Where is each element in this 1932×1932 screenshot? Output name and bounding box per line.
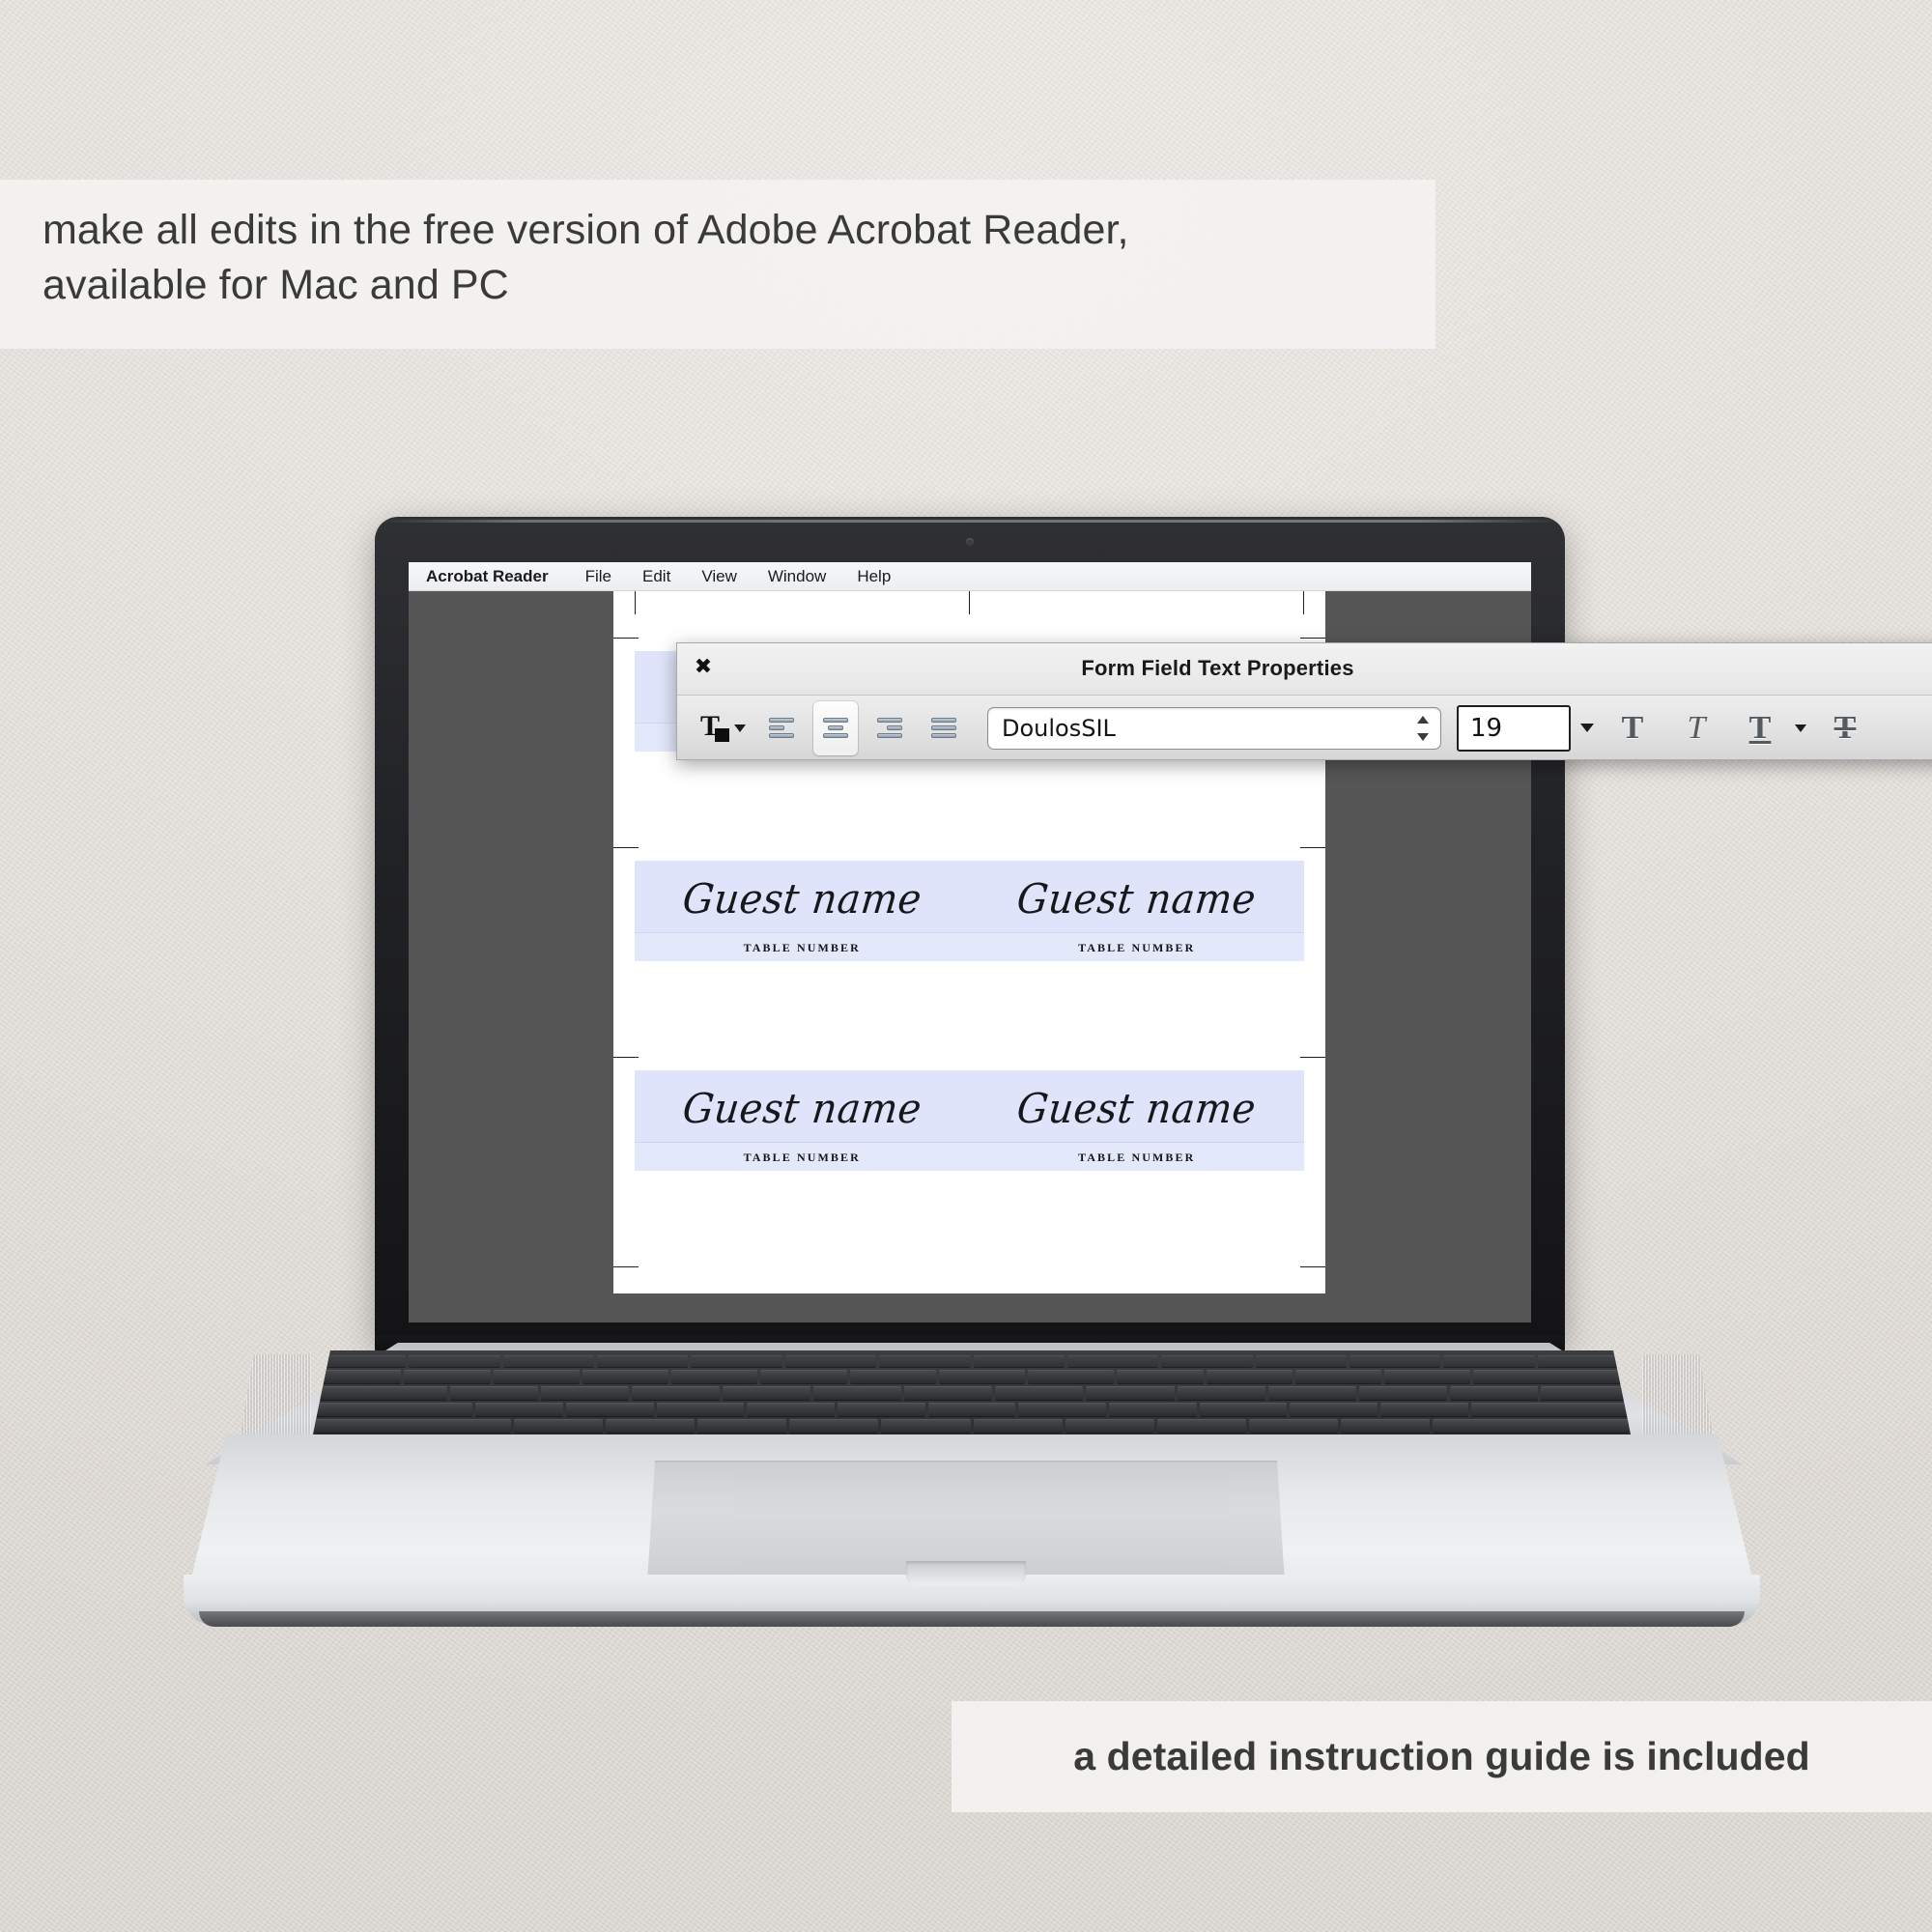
underline-chevron-down-icon[interactable] [1795,724,1806,732]
key[interactable] [1538,1355,1629,1367]
keyboard-row-home[interactable] [315,1403,1629,1416]
menu-item-help[interactable]: Help [841,562,906,591]
crop-mark [969,591,970,614]
crop-mark [1303,591,1304,614]
key[interactable] [1295,1370,1381,1383]
align-right-icon [877,716,902,741]
font-size-chevron-down-icon[interactable] [1580,724,1594,732]
key[interactable] [1207,1370,1293,1383]
key[interactable] [747,1403,835,1416]
keyboard-row-numbers[interactable] [315,1370,1629,1383]
key[interactable] [785,1355,876,1367]
key-shift-left[interactable] [315,1419,511,1433]
key[interactable] [1256,1355,1347,1367]
key-shift-right[interactable] [1433,1419,1629,1433]
key[interactable] [475,1403,563,1416]
italic-button[interactable]: T [1671,701,1721,755]
key[interactable] [995,1386,1083,1400]
font-size-value: 19 [1459,714,1502,743]
key[interactable] [1450,1386,1538,1400]
caption-top: make all edits in the free version of Ad… [0,180,1435,349]
key[interactable] [723,1386,810,1400]
align-right-button[interactable] [867,701,912,755]
key[interactable] [1067,1355,1158,1367]
stepper-icon[interactable] [1415,716,1431,741]
key[interactable] [1359,1386,1447,1400]
key[interactable] [1290,1403,1378,1416]
align-center-icon [823,716,848,741]
crop-mark [613,1266,639,1267]
keyboard-row-bottom-letters[interactable] [315,1419,1629,1433]
place-card-row[interactable]: Guest name TABLE NUMBER Guest name TABLE… [635,861,1304,961]
key[interactable] [1178,1386,1265,1400]
key-delete[interactable] [1473,1370,1629,1383]
align-center-button[interactable] [813,701,858,755]
guest-name-field[interactable]: Guest name [1015,879,1258,920]
menu-item-edit[interactable]: Edit [627,562,686,591]
key[interactable] [850,1370,936,1383]
key-caps-lock[interactable] [315,1403,472,1416]
key[interactable] [582,1370,668,1383]
key-return[interactable] [1471,1403,1629,1416]
key[interactable] [315,1370,401,1383]
webcam-icon [966,538,974,546]
font-size-input[interactable]: 19 [1457,705,1571,752]
key[interactable] [1268,1386,1356,1400]
caption-top-line-1: make all edits in the free version of Ad… [43,203,1435,258]
key[interactable] [1541,1386,1629,1400]
keyboard-row-qwerty[interactable] [315,1386,1629,1400]
key[interactable] [879,1355,970,1367]
crop-mark [1300,1057,1325,1058]
key[interactable] [404,1370,490,1383]
key[interactable] [1341,1419,1430,1433]
key[interactable] [1086,1386,1174,1400]
menubar: Acrobat Reader File Edit View Window Hel… [409,562,1531,591]
key[interactable] [881,1419,970,1433]
key[interactable] [974,1355,1065,1367]
text-color-button[interactable]: T [700,701,746,755]
key[interactable] [566,1403,654,1416]
place-card-cell[interactable]: Guest name TABLE NUMBER [970,1070,1305,1171]
key[interactable] [1161,1355,1252,1367]
crop-mark [635,591,636,614]
crop-mark [1300,1266,1325,1267]
key[interactable] [1157,1419,1246,1433]
key[interactable] [1109,1403,1197,1416]
guest-name-field[interactable]: Guest name [1015,1089,1258,1129]
key[interactable] [813,1386,901,1400]
key[interactable] [1249,1419,1338,1433]
table-number-label[interactable]: TABLE NUMBER [1078,941,1195,955]
font-family-select[interactable]: DoulosSIL [987,707,1441,750]
menu-item-view[interactable]: View [686,562,753,591]
key[interactable] [1117,1370,1203,1383]
chevron-down-icon[interactable] [734,724,746,732]
place-card-cell[interactable]: Guest name TABLE NUMBER [970,861,1305,961]
bold-button[interactable]: T [1607,701,1658,755]
text-color-icon: T [700,714,729,743]
key[interactable] [606,1419,695,1433]
key-tab[interactable] [315,1386,447,1400]
laptop-lid: Acrobat Reader File Edit View Window Hel… [375,517,1565,1343]
key[interactable] [974,1419,1063,1433]
place-card-row[interactable]: Guest name TABLE NUMBER Guest name TABLE… [635,1070,1304,1171]
key[interactable] [503,1355,594,1367]
align-left-icon [769,716,794,741]
table-number-label[interactable]: TABLE NUMBER [744,941,861,955]
table-number-label[interactable]: TABLE NUMBER [1078,1151,1195,1165]
key[interactable] [1028,1370,1114,1383]
keyboard-row-function[interactable] [315,1355,1629,1367]
font-family-value: DoulosSIL [988,715,1116,742]
key[interactable] [541,1386,629,1400]
key[interactable] [760,1370,846,1383]
place-card-cell[interactable]: Guest name TABLE NUMBER [635,861,970,961]
guest-name-field[interactable]: Guest name [681,1089,923,1129]
dialog-titlebar: ✖ Form Field Text Properties [677,643,1932,696]
crop-mark [613,847,639,848]
key[interactable] [939,1370,1025,1383]
guest-name-field[interactable]: Guest name [681,879,923,920]
dialog-title: Form Field Text Properties [677,656,1932,681]
key[interactable] [657,1403,745,1416]
strikethrough-button[interactable]: T [1820,701,1870,755]
key[interactable] [838,1403,925,1416]
key[interactable] [450,1386,538,1400]
key[interactable] [494,1370,580,1383]
crop-mark [613,638,639,639]
caption-bottom: a detailed instruction guide is included [952,1701,1932,1812]
laptop-front-notch [906,1561,1026,1586]
key[interactable] [904,1386,992,1400]
key[interactable] [789,1419,878,1433]
key[interactable] [928,1403,1016,1416]
align-justify-icon [931,716,956,741]
form-field-text-properties-dialog[interactable]: ✖ Form Field Text Properties T DoulosSIL [676,642,1932,760]
key[interactable] [671,1370,757,1383]
dialog-toolbar[interactable]: T DoulosSIL 19 T T T [677,696,1932,760]
key[interactable] [1200,1403,1288,1416]
key[interactable] [1380,1403,1468,1416]
key[interactable] [597,1355,688,1367]
table-number-label[interactable]: TABLE NUMBER [744,1151,861,1165]
menu-item-window[interactable]: Window [753,562,841,591]
menu-item-file[interactable]: File [570,562,627,591]
key[interactable] [697,1419,786,1433]
laptop-base-underside [199,1611,1745,1627]
place-card-cell[interactable]: Guest name TABLE NUMBER [635,1070,970,1171]
key[interactable] [315,1355,406,1367]
crop-mark [613,1057,639,1058]
key[interactable] [691,1355,781,1367]
key[interactable] [1443,1355,1534,1367]
menu-item-acrobat-reader[interactable]: Acrobat Reader [426,562,570,591]
key[interactable] [1065,1419,1154,1433]
key[interactable] [409,1355,499,1367]
align-justify-button[interactable] [922,701,966,755]
caption-top-line-2: available for Mac and PC [43,258,1435,313]
key[interactable] [1384,1370,1470,1383]
key[interactable] [514,1419,603,1433]
key[interactable] [1350,1355,1440,1367]
crop-mark [1300,847,1325,848]
align-left-button[interactable] [759,701,804,755]
key[interactable] [1018,1403,1106,1416]
key[interactable] [632,1386,720,1400]
crop-mark [1300,638,1325,639]
underline-button[interactable]: T [1735,701,1785,755]
